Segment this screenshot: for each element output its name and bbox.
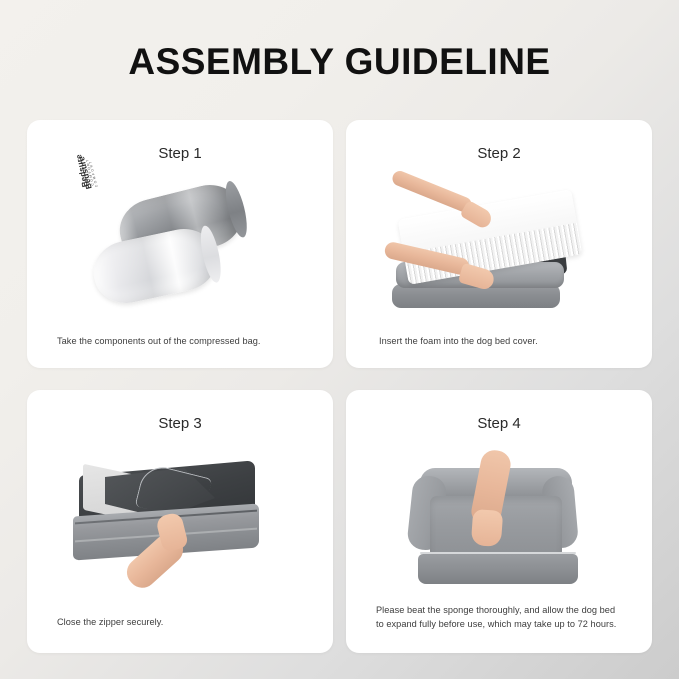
step-2-heading: Step 2 [346, 144, 652, 163]
step-card-1: Step 1 Bedsure COMFORT Bedsure COMFORT T… [27, 120, 333, 368]
roll-end-cap-icon [222, 179, 252, 239]
step-card-2: Step 2 Insert the foam into the dog bed … [346, 120, 652, 368]
upper-arm-icon [390, 169, 474, 214]
step-3-heading: Step 3 [27, 414, 333, 433]
step-1-caption: Take the components out of the compresse… [57, 335, 311, 349]
step-card-3: Step 3 Close the zipper securely. [27, 390, 333, 653]
step-4-illustration [346, 442, 652, 597]
step-1-illustration: Bedsure COMFORT Bedsure COMFORT [27, 172, 333, 327]
compressed-roll-white-icon [88, 223, 222, 309]
hand-pressing-icon [471, 509, 503, 547]
step-1-heading: Step 1 [27, 144, 333, 163]
steps-grid: Step 1 Bedsure COMFORT Bedsure COMFORT T… [27, 120, 652, 653]
step-4-heading: Step 4 [346, 414, 652, 433]
bed-base-icon [418, 554, 578, 584]
assembly-guideline-page: ASSEMBLY GUIDELINE Step 1 Bedsure COMFOR… [0, 0, 679, 679]
step-card-4: Step 4 Please beat the sponge thoroughly… [346, 390, 652, 653]
step-3-illustration [27, 442, 333, 597]
step-2-caption: Insert the foam into the dog bed cover. [379, 335, 630, 349]
page-title: ASSEMBLY GUIDELINE [0, 40, 679, 84]
step-2-illustration [346, 172, 652, 327]
step-3-caption: Close the zipper securely. [57, 616, 311, 630]
step-4-caption: Please beat the sponge thoroughly, and a… [376, 604, 624, 631]
